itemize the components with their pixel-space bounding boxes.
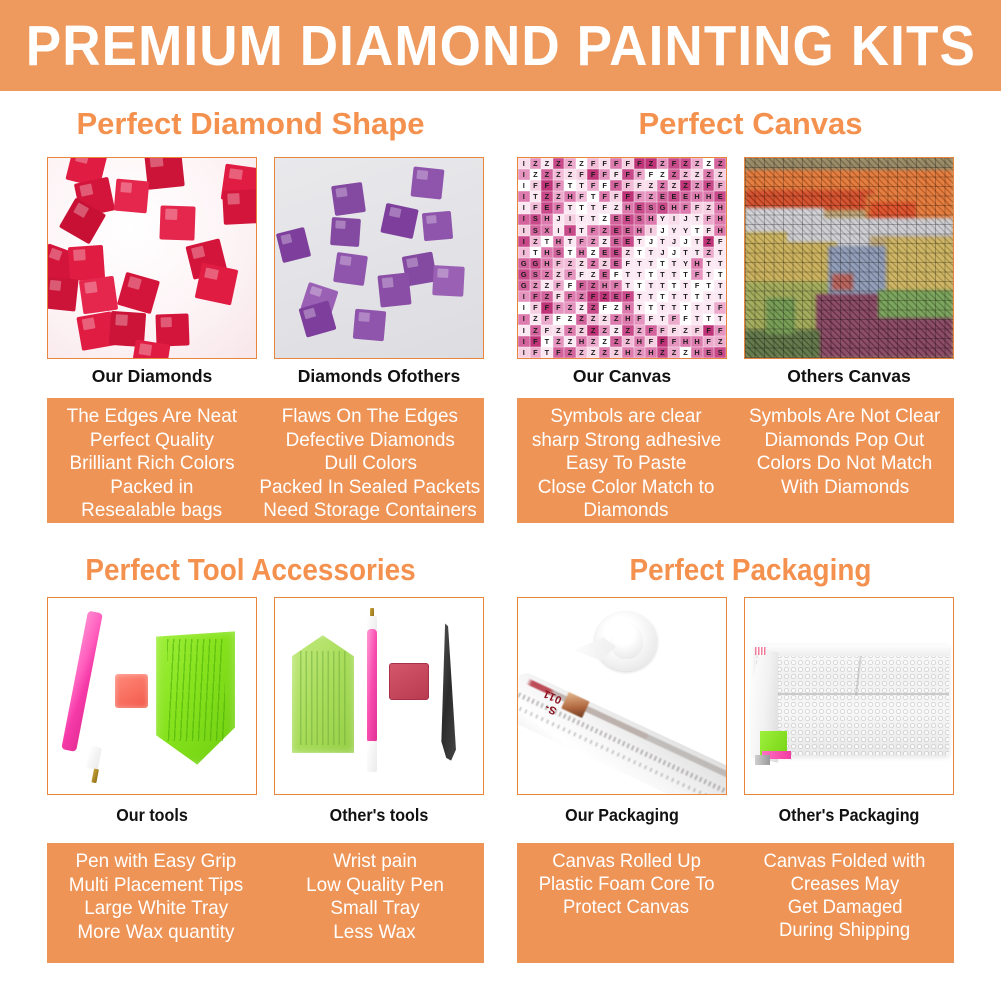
canvas-symbol-cell: I — [668, 214, 680, 225]
canvas-symbol-cell: T — [564, 236, 576, 247]
canvas-symbol-cell: I — [518, 169, 530, 180]
canvas-symbol-cell: Z — [587, 247, 599, 258]
canvas-symbol-cell: Z — [564, 325, 576, 336]
canvas-symbol-cell: Y — [680, 225, 692, 236]
canvas-symbol-cell: Z — [622, 247, 634, 258]
canvas-symbol-cell: F — [668, 314, 680, 325]
canvas-symbol-cell: Z — [576, 258, 588, 269]
canvas-symbol-cell: Z — [564, 158, 576, 169]
canvas-symbol-cell: E — [599, 247, 611, 258]
canvas-symbol-cell: Z — [530, 169, 542, 180]
canvas-symbol-cell: G — [518, 258, 530, 269]
canvas-symbol-cell: F — [564, 291, 576, 302]
canvas-symbol-cell: T — [657, 302, 669, 313]
purple-square-diamonds-photo — [275, 158, 483, 358]
canvas-symbol-cell: Z — [541, 158, 553, 169]
canvas-symbol-cell: S — [530, 225, 542, 236]
canvas-symbol-cell: F — [576, 269, 588, 280]
canvas-symbol-cell: Z — [680, 325, 692, 336]
canvas-symbol-cell: Z — [610, 347, 622, 358]
canvas-symbol-cell: H — [714, 214, 726, 225]
canvas-symbol-cell: F — [622, 291, 634, 302]
caption-others-diamonds: Diamonds Ofothers — [274, 366, 484, 387]
canvas-symbol-cell: Z — [622, 325, 634, 336]
canvas-symbol-cell: Z — [610, 336, 622, 347]
canvas-symbol-cell: Z — [680, 347, 692, 358]
canvas-symbol-cell: F — [634, 169, 646, 180]
canvas-symbol-cell: H — [714, 202, 726, 213]
canvas-symbol-cell: Z — [553, 325, 565, 336]
canvas-symbol-cell: Z — [610, 302, 622, 313]
canvas-symbol-cell: S — [634, 214, 646, 225]
canvas-symbol-cell: J — [645, 236, 657, 247]
section-title-packaging: Perfect Packaging — [525, 552, 976, 588]
canvas-symbol-cell: H — [680, 336, 692, 347]
canvas-symbol-cell: Z — [564, 347, 576, 358]
canvas-symbol-cell: E — [634, 202, 646, 213]
feature-line: Close Color Match to — [538, 476, 715, 500]
canvas-symbol-cell: F — [541, 314, 553, 325]
canvas-symbol-cell: T — [691, 247, 703, 258]
canvas-symbol-cell: Z — [645, 180, 657, 191]
feature-line: Symbols Are Not Clear — [749, 405, 940, 429]
canvas-symbol-cell: E — [703, 347, 715, 358]
canvas-symbol-cell: F — [587, 225, 599, 236]
feature-line: Easy To Paste — [566, 452, 687, 476]
feature-list-others-diamonds: Flaws On The EdgesDefective DiamondsDull… — [256, 398, 484, 523]
canvas-symbol-cell: H — [645, 214, 657, 225]
canvas-symbol-cell: Z — [587, 302, 599, 313]
canvas-symbol-cell: F — [587, 158, 599, 169]
canvas-symbol-cell: I — [518, 347, 530, 358]
canvas-symbol-cell: H — [645, 347, 657, 358]
canvas-symbol-cell: Z — [553, 158, 565, 169]
pink-symbol-canvas-photo: IZZZZZFFFFFZZFZZZZIZZZZFFFFFFFZZZZZZIFFF… — [518, 158, 726, 358]
canvas-symbol-cell: H — [576, 336, 588, 347]
feature-panel-canvas: Symbols are clearsharp Strong adhesiveEa… — [517, 398, 954, 523]
canvas-symbol-cell: E — [610, 225, 622, 236]
canvas-symbol-cell: F — [714, 236, 726, 247]
feature-line: Colors Do Not Match — [757, 452, 933, 476]
poster-header: PREMIUM DIAMOND PAINTING KITS — [0, 0, 1001, 91]
feature-line: Flaws On The Edges — [282, 405, 458, 429]
canvas-symbol-cell: T — [668, 280, 680, 291]
image-card-others-tools — [274, 597, 484, 795]
canvas-symbol-cell: E — [610, 258, 622, 269]
canvas-symbol-cell: Z — [541, 280, 553, 291]
canvas-symbol-cell: T — [691, 214, 703, 225]
feature-line: Small Tray — [330, 897, 419, 921]
canvas-symbol-cell: F — [610, 158, 622, 169]
pink-pen-wax-green-tray-photo — [48, 598, 256, 794]
canvas-symbol-cell: T — [645, 269, 657, 280]
canvas-symbol-cell: I — [518, 180, 530, 191]
canvas-symbol-cell: E — [610, 214, 622, 225]
canvas-symbol-cell: Z — [657, 158, 669, 169]
canvas-symbol-cell: F — [599, 180, 611, 191]
canvas-symbol-cell: Z — [564, 258, 576, 269]
canvas-symbol-cell: T — [541, 236, 553, 247]
canvas-symbol-cell: T — [703, 280, 715, 291]
canvas-symbol-cell: I — [518, 325, 530, 336]
canvas-symbol-cell: T — [714, 280, 726, 291]
feature-panel-packaging: Canvas Rolled UpPlastic Foam Core ToProt… — [517, 843, 954, 963]
canvas-symbol-cell: F — [564, 269, 576, 280]
canvas-symbol-cell: F — [645, 169, 657, 180]
feature-line: sharp Strong adhesive — [532, 429, 721, 453]
canvas-symbol-cell: F — [530, 202, 542, 213]
canvas-symbol-cell: T — [541, 347, 553, 358]
canvas-symbol-cell: T — [680, 291, 692, 302]
canvas-symbol-cell: I — [564, 225, 576, 236]
canvas-symbol-cell: T — [680, 269, 692, 280]
canvas-symbol-cell: F — [622, 169, 634, 180]
feature-line: Pen with Easy Grip — [76, 850, 237, 874]
canvas-symbol-cell: I — [553, 225, 565, 236]
canvas-symbol-cell: Z — [622, 336, 634, 347]
canvas-symbol-cell: E — [657, 191, 669, 202]
white-tube-roll-photo: S-011 — [518, 598, 726, 794]
canvas-symbol-cell: Z — [599, 347, 611, 358]
canvas-symbol-cell: F — [634, 191, 646, 202]
canvas-symbol-cell: T — [703, 291, 715, 302]
canvas-symbol-cell: F — [576, 169, 588, 180]
canvas-symbol-cell: T — [714, 291, 726, 302]
canvas-symbol-cell: E — [714, 191, 726, 202]
canvas-symbol-cell: S — [553, 247, 565, 258]
feature-line: Get Damaged — [787, 896, 902, 919]
section-title-canvas: Perfect Canvas — [500, 106, 1001, 142]
canvas-symbol-cell: F — [680, 314, 692, 325]
canvas-symbol-cell: T — [680, 280, 692, 291]
canvas-symbol-cell: H — [553, 236, 565, 247]
canvas-symbol-cell: S — [645, 202, 657, 213]
canvas-symbol-cell: T — [657, 258, 669, 269]
canvas-symbol-cell: Z — [541, 169, 553, 180]
canvas-symbol-cell: F — [530, 347, 542, 358]
canvas-symbol-cell: I — [518, 291, 530, 302]
canvas-symbol-cell: F — [553, 291, 565, 302]
canvas-symbol-cell: Z — [564, 169, 576, 180]
canvas-symbol-cell: F — [714, 302, 726, 313]
canvas-symbol-cell: Z — [576, 325, 588, 336]
canvas-symbol-cell: T — [714, 258, 726, 269]
canvas-symbol-cell: F — [703, 336, 715, 347]
canvas-symbol-grid: IZZZZZFFFFFZZFZZZZIZZZZFFFFFFFZZZZZZIFFF… — [518, 158, 726, 358]
canvas-symbol-cell: Z — [668, 169, 680, 180]
canvas-symbol-cell: G — [657, 202, 669, 213]
canvas-symbol-cell: F — [610, 280, 622, 291]
canvas-symbol-cell: Z — [668, 180, 680, 191]
feature-list-others-tools: Wrist painLow Quality PenSmall TrayLess … — [266, 843, 485, 963]
canvas-symbol-cell: T — [691, 302, 703, 313]
canvas-symbol-cell: Z — [587, 325, 599, 336]
canvas-symbol-cell: Z — [657, 347, 669, 358]
canvas-symbol-cell: T — [668, 291, 680, 302]
canvas-symbol-cell: F — [610, 169, 622, 180]
canvas-symbol-cell: Z — [599, 325, 611, 336]
canvas-symbol-cell: F — [668, 158, 680, 169]
feature-line: Canvas Folded with — [764, 850, 926, 873]
canvas-symbol-cell: H — [622, 347, 634, 358]
canvas-symbol-cell: T — [703, 269, 715, 280]
caption-others-packaging: Other's Packaging — [752, 805, 945, 826]
feature-line: Large White Tray — [84, 897, 228, 921]
canvas-symbol-cell: F — [634, 158, 646, 169]
canvas-symbol-cell: F — [553, 347, 565, 358]
white-bubble-mailer-photo — [745, 598, 953, 794]
canvas-symbol-cell: T — [622, 269, 634, 280]
canvas-symbol-cell: T — [576, 180, 588, 191]
canvas-symbol-cell: T — [691, 225, 703, 236]
canvas-symbol-cell: F — [668, 325, 680, 336]
canvas-symbol-cell: F — [634, 180, 646, 191]
canvas-symbol-cell: F — [610, 191, 622, 202]
canvas-symbol-cell: Z — [634, 325, 646, 336]
canvas-symbol-cell: I — [564, 214, 576, 225]
canvas-symbol-cell: F — [599, 158, 611, 169]
feature-line: Packed In Sealed Packets — [260, 476, 481, 500]
page-title: PREMIUM DIAMOND PAINTING KITS — [25, 13, 975, 79]
image-card-others-packaging — [744, 597, 954, 795]
canvas-symbol-cell: F — [587, 169, 599, 180]
canvas-symbol-cell: Z — [714, 169, 726, 180]
canvas-symbol-cell: T — [645, 280, 657, 291]
canvas-symbol-cell: H — [564, 191, 576, 202]
canvas-symbol-cell: F — [691, 280, 703, 291]
canvas-symbol-cell: T — [657, 280, 669, 291]
canvas-symbol-cell: Y — [657, 214, 669, 225]
canvas-symbol-cell: T — [657, 314, 669, 325]
canvas-symbol-cell: T — [576, 225, 588, 236]
canvas-symbol-cell: Z — [714, 158, 726, 169]
canvas-symbol-cell: I — [518, 302, 530, 313]
canvas-symbol-cell: F — [530, 180, 542, 191]
canvas-symbol-cell: Z — [645, 158, 657, 169]
canvas-symbol-cell: T — [680, 247, 692, 258]
canvas-symbol-cell: F — [530, 302, 542, 313]
canvas-symbol-cell: H — [691, 191, 703, 202]
canvas-symbol-cell: E — [680, 191, 692, 202]
canvas-symbol-cell: F — [714, 180, 726, 191]
image-card-others-diamonds — [274, 157, 484, 359]
canvas-symbol-cell: Z — [599, 336, 611, 347]
canvas-symbol-cell: Z — [634, 347, 646, 358]
canvas-symbol-cell: E — [622, 225, 634, 236]
canvas-symbol-cell: Z — [680, 169, 692, 180]
canvas-symbol-cell: G — [530, 258, 542, 269]
canvas-symbol-cell: Z — [657, 169, 669, 180]
red-square-diamonds-photo — [48, 158, 256, 358]
canvas-symbol-cell: T — [657, 291, 669, 302]
feature-line: The Edges Are Neat — [67, 405, 237, 429]
feature-line: Plastic Foam Core To — [538, 873, 714, 896]
canvas-symbol-cell: Z — [703, 158, 715, 169]
canvas-symbol-cell: Z — [553, 336, 565, 347]
canvas-symbol-cell: F — [645, 336, 657, 347]
feature-list-others-canvas: Symbols Are Not ClearDiamonds Pop OutCol… — [736, 398, 955, 523]
canvas-symbol-cell: T — [657, 236, 669, 247]
canvas-symbol-cell: T — [645, 258, 657, 269]
canvas-symbol-cell: F — [587, 180, 599, 191]
canvas-symbol-cell: T — [714, 269, 726, 280]
canvas-symbol-cell: T — [703, 314, 715, 325]
canvas-symbol-cell: F — [622, 258, 634, 269]
canvas-symbol-cell: F — [610, 269, 622, 280]
canvas-symbol-cell: H — [576, 247, 588, 258]
canvas-symbol-cell: T — [634, 291, 646, 302]
canvas-symbol-cell: Z — [691, 169, 703, 180]
canvas-symbol-cell: F — [553, 280, 565, 291]
canvas-symbol-cell: T — [622, 280, 634, 291]
canvas-symbol-cell: Z — [587, 314, 599, 325]
feature-list-others-packaging: Canvas Folded withCreases MayGet Damaged… — [736, 843, 955, 963]
canvas-symbol-cell: T — [587, 191, 599, 202]
canvas-symbol-cell: F — [599, 302, 611, 313]
canvas-symbol-cell: F — [703, 214, 715, 225]
canvas-symbol-cell: F — [622, 180, 634, 191]
canvas-symbol-cell: T — [541, 336, 553, 347]
canvas-symbol-cell: T — [530, 247, 542, 258]
canvas-symbol-cell: T — [645, 247, 657, 258]
canvas-symbol-cell: Z — [587, 347, 599, 358]
canvas-symbol-cell: Z — [610, 202, 622, 213]
canvas-symbol-cell: G — [518, 280, 530, 291]
feature-list-our-tools: Pen with Easy GripMulti Placement TipsLa… — [47, 843, 266, 963]
canvas-symbol-cell: Z — [553, 191, 565, 202]
feature-line: Diamonds Pop Out — [765, 429, 925, 453]
feature-panel-tool-accessories: Pen with Easy GripMulti Placement TipsLa… — [47, 843, 484, 963]
section-title-diamond-shape: Perfect Diamond Shape — [0, 106, 501, 142]
canvas-symbol-cell: T — [634, 269, 646, 280]
canvas-symbol-cell: F — [553, 314, 565, 325]
canvas-symbol-cell: H — [541, 247, 553, 258]
canvas-symbol-cell: S — [714, 347, 726, 358]
canvas-symbol-cell: Z — [587, 336, 599, 347]
canvas-symbol-cell: F — [599, 169, 611, 180]
canvas-symbol-cell: F — [553, 302, 565, 313]
canvas-symbol-cell: Z — [599, 258, 611, 269]
canvas-symbol-cell: Z — [599, 314, 611, 325]
canvas-symbol-cell: T — [587, 202, 599, 213]
canvas-symbol-cell: Z — [530, 158, 542, 169]
canvas-symbol-cell: F — [657, 325, 669, 336]
canvas-symbol-cell: F — [530, 336, 542, 347]
canvas-symbol-cell: H — [622, 202, 634, 213]
canvas-symbol-cell: T — [645, 291, 657, 302]
canvas-symbol-cell: Z — [576, 158, 588, 169]
caption-our-canvas: Our Canvas — [517, 366, 727, 387]
image-card-others-canvas — [744, 157, 954, 359]
green-tray-pen-wax-tweezers-photo — [275, 598, 483, 794]
feature-line: Creases May — [790, 873, 899, 896]
canvas-symbol-cell: Z — [680, 158, 692, 169]
canvas-symbol-cell: T — [645, 302, 657, 313]
canvas-symbol-cell: Z — [530, 280, 542, 291]
caption-others-canvas: Others Canvas — [744, 366, 954, 387]
canvas-symbol-cell: I — [518, 158, 530, 169]
canvas-symbol-cell: T — [668, 258, 680, 269]
canvas-symbol-cell: F — [645, 314, 657, 325]
canvas-symbol-cell: Z — [541, 291, 553, 302]
feature-line: Defective Diamonds — [286, 429, 455, 453]
feature-line: Need Storage Containers — [263, 499, 476, 523]
feature-line: With Diamonds — [781, 476, 909, 500]
canvas-symbol-cell: Z — [645, 191, 657, 202]
canvas-symbol-cell: Z — [530, 314, 542, 325]
canvas-symbol-cell: Z — [564, 314, 576, 325]
canvas-symbol-cell: F — [703, 325, 715, 336]
canvas-symbol-cell: Z — [541, 191, 553, 202]
canvas-symbol-cell: T — [714, 247, 726, 258]
canvas-symbol-cell: J — [657, 225, 669, 236]
feature-line: During Shipping — [779, 919, 910, 942]
feature-line: Packed in — [110, 476, 193, 500]
canvas-symbol-cell: T — [691, 236, 703, 247]
canvas-symbol-cell: T — [576, 214, 588, 225]
feature-list-our-canvas: Symbols are clearsharp Strong adhesiveEa… — [517, 398, 736, 523]
canvas-symbol-cell: Z — [703, 247, 715, 258]
canvas-symbol-cell: Z — [599, 225, 611, 236]
canvas-symbol-cell: Z — [553, 169, 565, 180]
canvas-symbol-cell: Z — [610, 314, 622, 325]
canvas-symbol-cell: F — [576, 236, 588, 247]
canvas-symbol-cell: Z — [587, 269, 599, 280]
canvas-symbol-cell: F — [553, 258, 565, 269]
canvas-symbol-cell: Z — [553, 269, 565, 280]
canvas-symbol-cell: T — [691, 314, 703, 325]
canvas-symbol-cell: F — [714, 325, 726, 336]
canvas-symbol-cell: E — [599, 269, 611, 280]
canvas-symbol-cell: F — [599, 191, 611, 202]
canvas-symbol-cell: H — [541, 214, 553, 225]
canvas-symbol-cell: S — [530, 214, 542, 225]
canvas-symbol-cell: Z — [576, 314, 588, 325]
canvas-symbol-cell: I — [518, 314, 530, 325]
canvas-symbol-cell: F — [645, 325, 657, 336]
feature-list-our-packaging: Canvas Rolled UpPlastic Foam Core ToProt… — [517, 843, 736, 963]
blurry-color-canvas-photo — [745, 158, 953, 358]
canvas-symbol-cell: Z — [587, 258, 599, 269]
canvas-symbol-cell: E — [622, 214, 634, 225]
caption-others-tools: Other's tools — [282, 805, 475, 826]
canvas-symbol-cell: I — [518, 336, 530, 347]
feature-line: Low Quality Pen — [306, 874, 444, 898]
canvas-symbol-cell: H — [634, 336, 646, 347]
canvas-symbol-cell: X — [541, 225, 553, 236]
feature-line: More Wax quantity — [78, 921, 235, 945]
canvas-symbol-cell: H — [599, 280, 611, 291]
canvas-symbol-cell: H — [714, 225, 726, 236]
canvas-symbol-cell: T — [657, 269, 669, 280]
canvas-symbol-cell: Z — [680, 180, 692, 191]
canvas-symbol-cell: H — [691, 258, 703, 269]
section-title-tool-accessories: Perfect Tool Accessories — [25, 552, 476, 588]
feature-line: Brilliant Rich Colors — [69, 452, 234, 476]
canvas-symbol-cell: T — [634, 236, 646, 247]
canvas-symbol-cell: F — [610, 180, 622, 191]
canvas-symbol-cell: T — [564, 180, 576, 191]
feature-line: Less Wax — [334, 921, 416, 945]
canvas-symbol-cell: T — [691, 291, 703, 302]
canvas-symbol-cell: Z — [599, 214, 611, 225]
feature-line: Protect Canvas — [563, 896, 689, 919]
canvas-symbol-cell: I — [518, 236, 530, 247]
canvas-symbol-cell: F — [564, 280, 576, 291]
canvas-symbol-cell: F — [668, 336, 680, 347]
canvas-symbol-cell: H — [634, 225, 646, 236]
feature-line: Canvas Rolled Up — [552, 850, 701, 873]
